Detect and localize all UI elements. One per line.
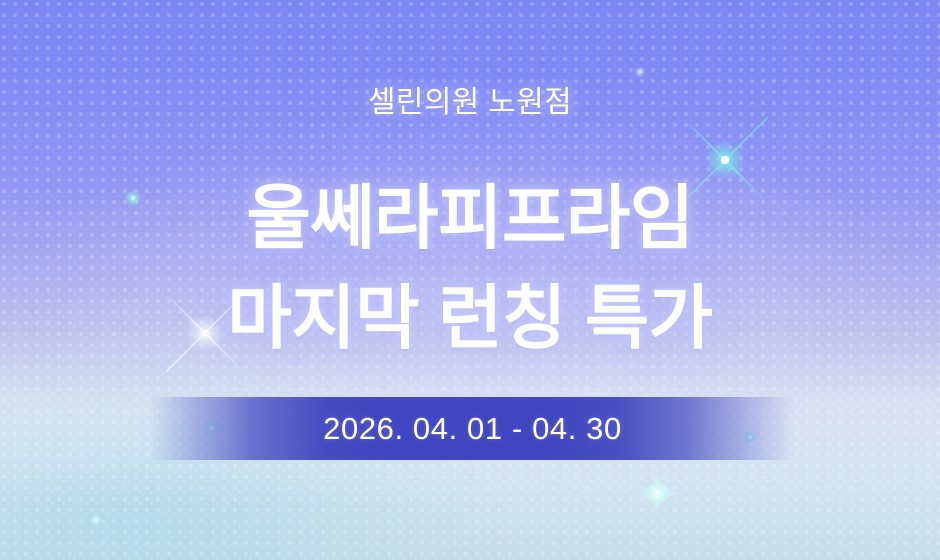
promo-banner: 셀린의원 노원점 울쎄라피프라임 마지막 런칭 특가 2026. 04. 01 … (0, 0, 940, 560)
banner-content: 셀린의원 노원점 울쎄라피프라임 마지막 런칭 특가 2026. 04. 01 … (0, 0, 940, 560)
headline-line-2: 마지막 런칭 특가 (0, 262, 940, 363)
promotion-date-range: 2026. 04. 01 - 04. 30 (323, 411, 622, 447)
headline-line-1: 울쎄라피프라임 (0, 162, 940, 263)
date-band: 2026. 04. 01 - 04. 30 (150, 397, 795, 460)
clinic-name: 셀린의원 노원점 (0, 77, 940, 121)
